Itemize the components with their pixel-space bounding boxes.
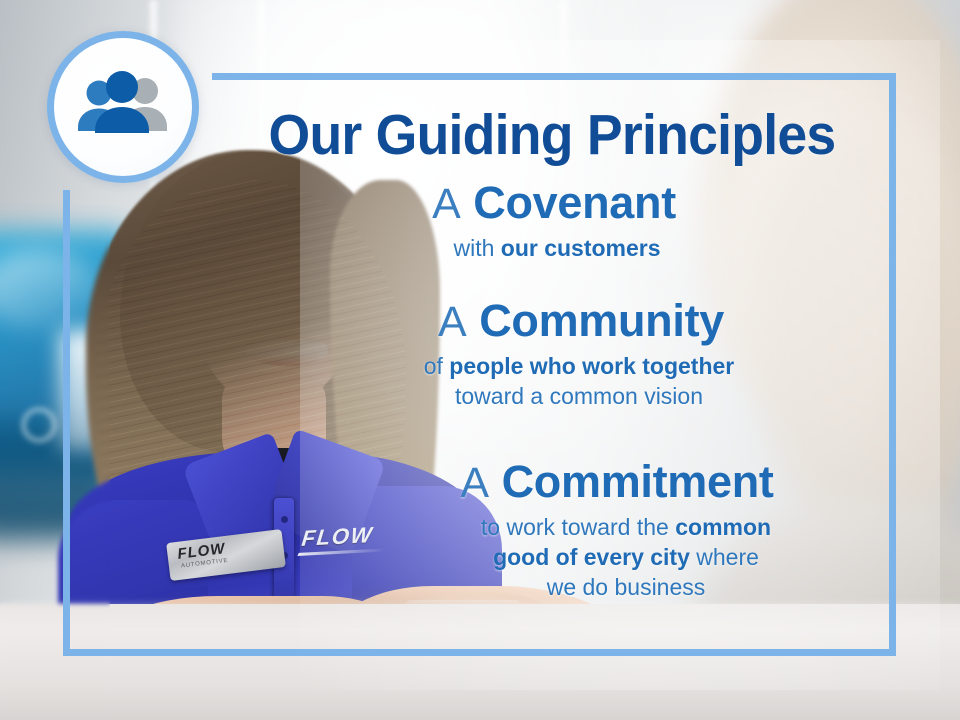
- people-group-icon: [71, 71, 175, 143]
- principle-covenant: A Covenant with our customers: [212, 180, 896, 264]
- subtext-tail: where: [696, 544, 759, 570]
- subtext-lead: of: [424, 353, 443, 379]
- subtext-strong: people who work together: [449, 353, 734, 379]
- principle-commitment: A Commitment to work toward the commongo…: [212, 459, 896, 602]
- principle-article: A: [438, 298, 467, 346]
- subtext-lead: with: [453, 235, 494, 261]
- principle-community: A Community of people who work together …: [212, 298, 896, 412]
- banner-graphic: FLOW FLOW AUTOMOTIVE: [0, 0, 960, 720]
- principle-article: A: [460, 459, 489, 507]
- principle-subtext: of people who work together toward a com…: [212, 352, 896, 412]
- principles-badge: [47, 31, 199, 183]
- subtext-line2: toward a common vision: [455, 383, 703, 409]
- principle-heading: A Commitment: [212, 459, 896, 506]
- text-content: Our Guiding Principles A Covenant with o…: [212, 73, 896, 656]
- subtext-strong: our customers: [501, 235, 661, 261]
- principle-subtext: with our customers: [212, 234, 896, 264]
- principle-heading: A Community: [212, 298, 896, 345]
- frame-border-left: [63, 190, 70, 656]
- page-title: Our Guiding Principles: [242, 102, 862, 168]
- principle-subtext: to work toward the commongood of every c…: [212, 513, 896, 603]
- subtext-line2: we do business: [547, 574, 706, 600]
- principle-keyword: Commitment: [502, 456, 774, 507]
- principle-article: A: [432, 180, 461, 228]
- principle-keyword: Community: [479, 295, 724, 346]
- principle-keyword: Covenant: [473, 177, 676, 228]
- principle-heading: A Covenant: [212, 180, 896, 227]
- subtext-lead: to work toward the: [481, 514, 669, 540]
